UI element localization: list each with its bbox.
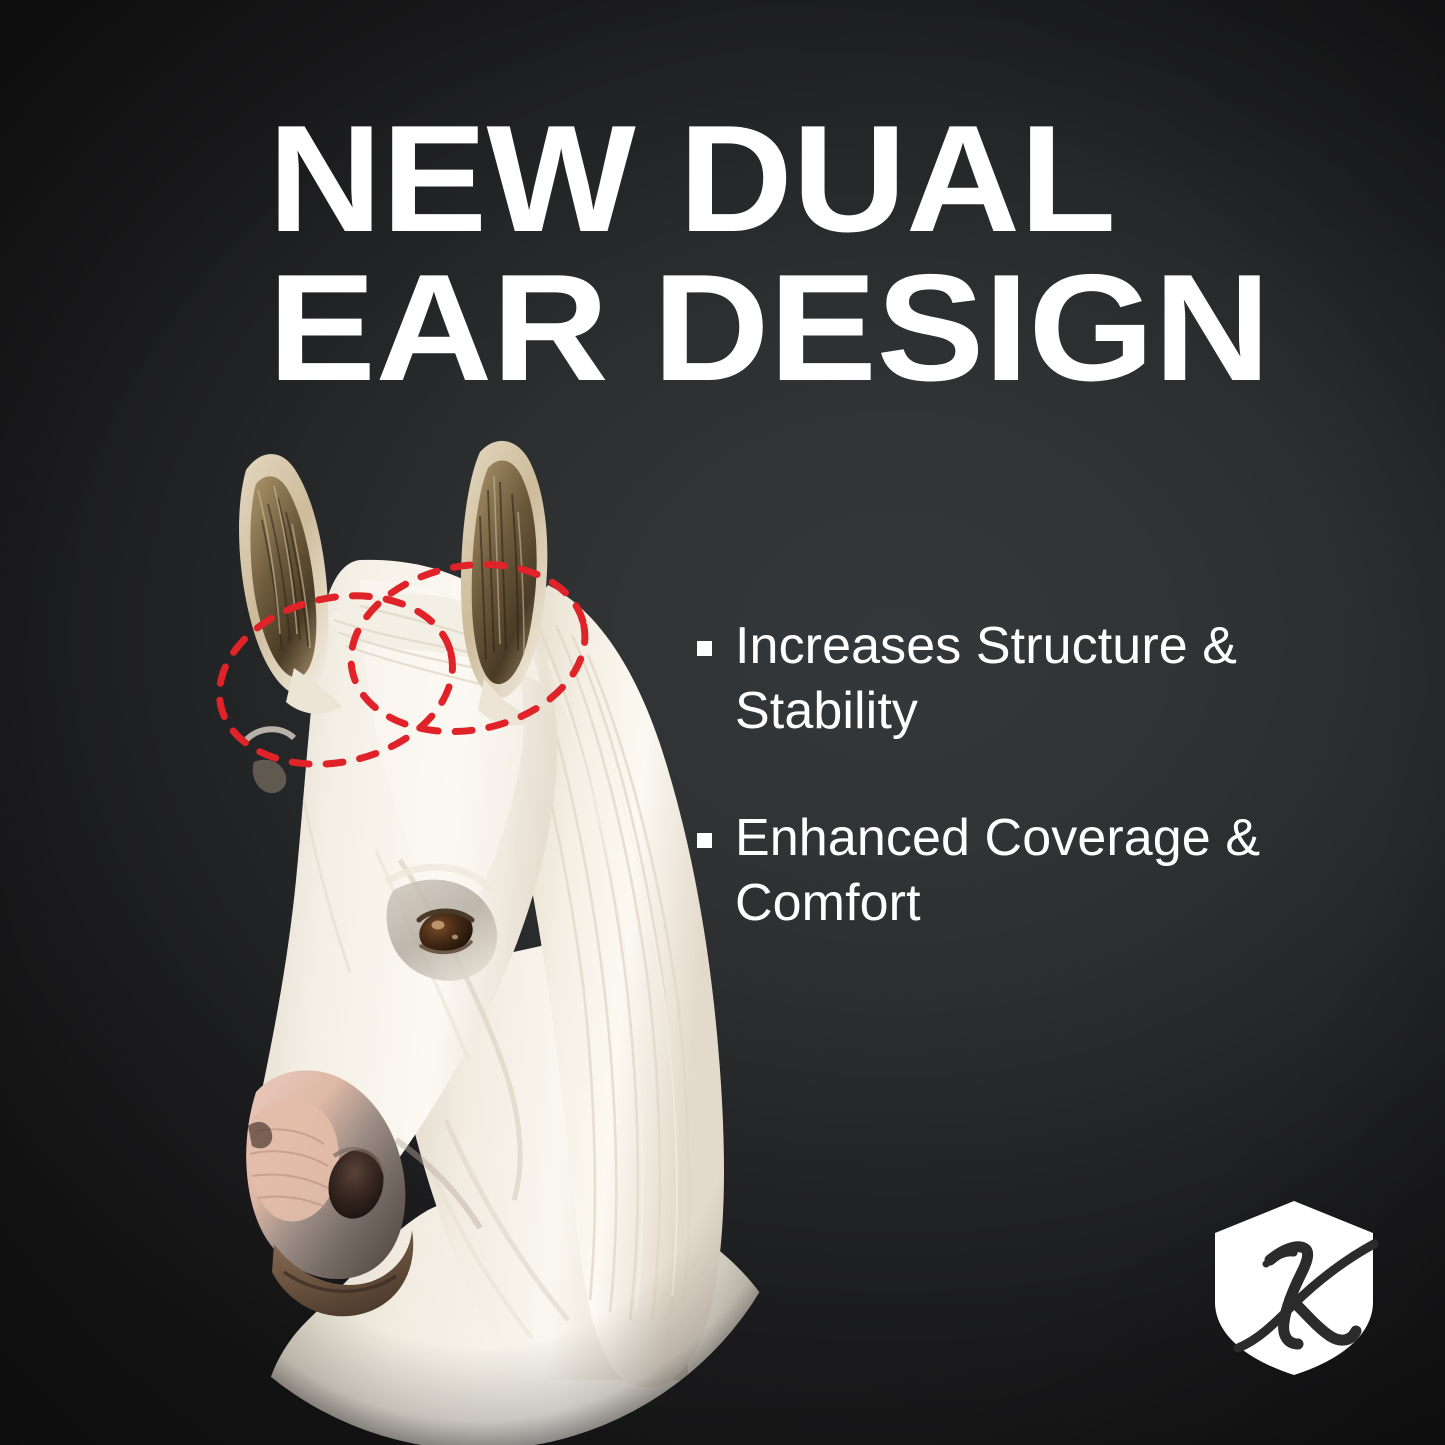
bullet-label-2: Enhanced Coverage & Comfort [735,806,1357,936]
poster-canvas: NEW DUAL EAR DESIGN Increases Structure … [0,0,1445,1445]
page-title: NEW DUAL EAR DESIGN [268,108,1198,400]
list-item: Enhanced Coverage & Comfort [697,806,1357,936]
kensington-shield-logo [1208,1198,1380,1378]
bullet-label-1: Increases Structure & Stability [735,614,1357,744]
square-bullet-icon [697,641,712,656]
list-item: Increases Structure & Stability [697,614,1357,744]
feature-bullet-list: Increases Structure & Stability Enhanced… [697,614,1357,936]
headline-line-1: NEW DUAL [268,108,1235,251]
square-bullet-icon [697,833,712,848]
headline-line-2: EAR DESIGN [268,257,1258,400]
